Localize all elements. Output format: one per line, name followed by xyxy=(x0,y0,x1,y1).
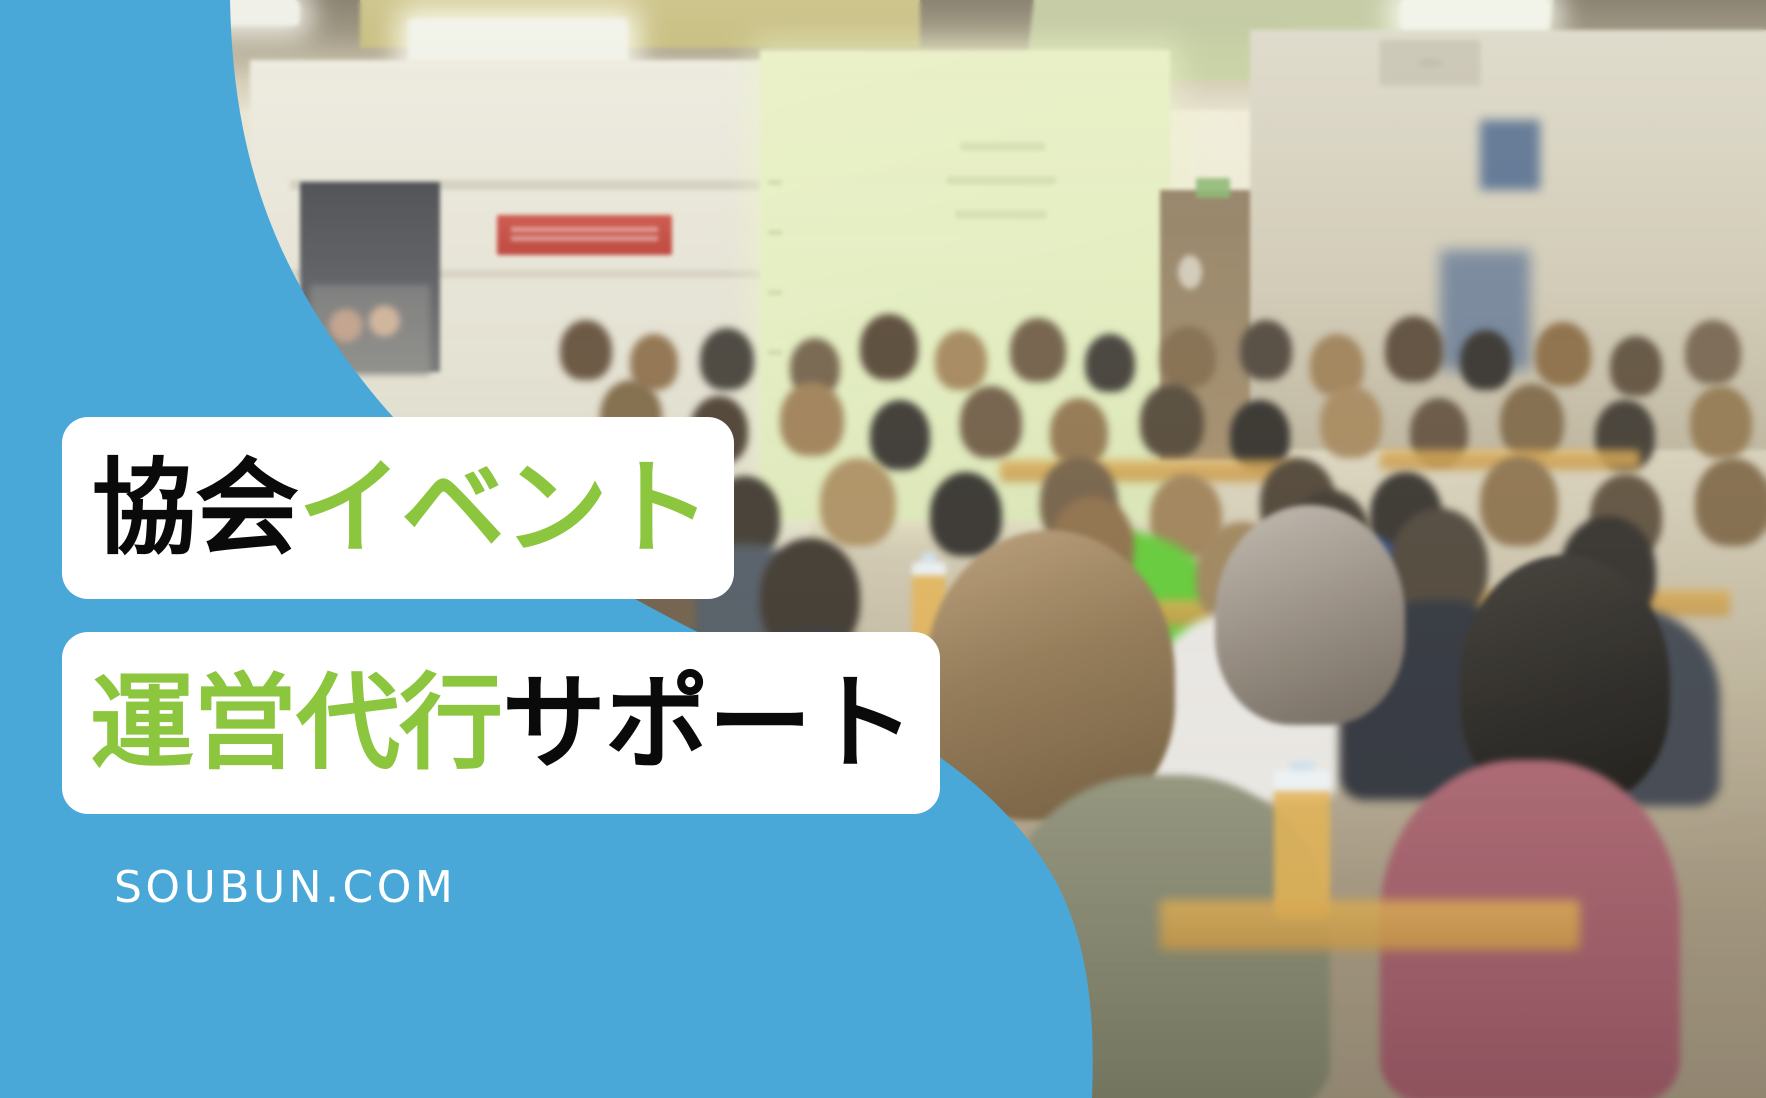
ceiling-fan xyxy=(1370,40,1490,86)
promotional-banner: 協会イベント 運営代行サポート SOUBUN.COM xyxy=(0,0,1766,1098)
exit-sign xyxy=(1196,178,1230,198)
headline-card-secondary: 運営代行サポート xyxy=(62,632,940,814)
headline-line2-black: サポート xyxy=(502,671,914,775)
headline-line1-green: イベント xyxy=(298,456,710,560)
water-bottle xyxy=(1274,770,1330,920)
headline-card-primary: 協会イベント xyxy=(62,417,734,599)
wall-object xyxy=(1480,120,1540,190)
desk xyxy=(1160,900,1580,950)
headline-line1-black: 協会 xyxy=(92,456,298,560)
door-knob xyxy=(1178,255,1202,289)
foreground-person-head xyxy=(1215,505,1405,725)
brand-logo: SOUBUN.COM xyxy=(114,862,456,913)
headline-line2-green: 運営代行 xyxy=(90,671,502,775)
ceiling-lamp xyxy=(1400,0,1550,30)
